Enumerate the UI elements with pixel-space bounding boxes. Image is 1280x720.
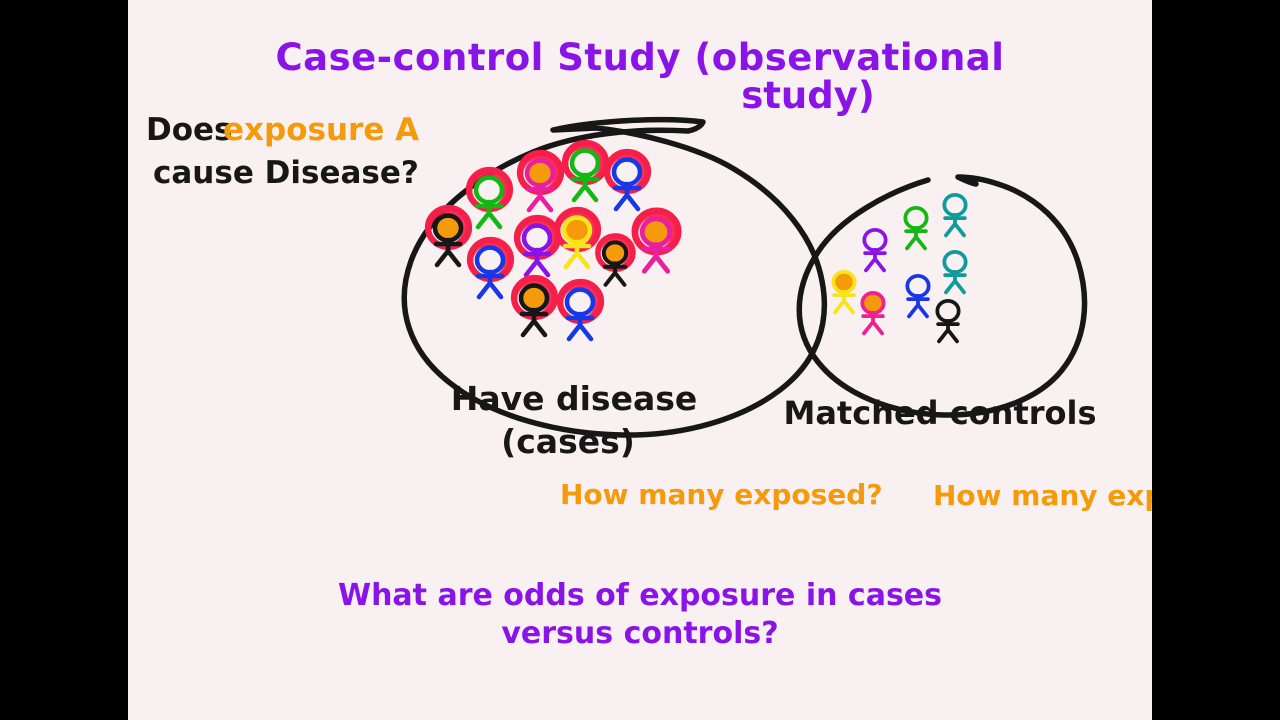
- figure-body: [478, 272, 502, 297]
- letterbox-right: [1152, 0, 1280, 720]
- control-teal-unexposed-2: [944, 252, 965, 293]
- head-exposed: [642, 219, 670, 245]
- odds-question-line-1: What are odds of exposure in cases: [338, 578, 942, 613]
- figure-body: [522, 310, 546, 335]
- case-purple-unexposed-1: [517, 218, 558, 275]
- figure-body: [568, 314, 592, 339]
- head-unexposed: [567, 290, 593, 315]
- case-blue-unexposed-2: [470, 240, 511, 297]
- figure-body: [525, 250, 549, 275]
- figure-body: [573, 175, 597, 200]
- head-unexposed: [477, 248, 503, 273]
- controls-label-line-1: Matched controls: [783, 394, 1096, 432]
- control-black-unexposed: [937, 301, 958, 342]
- question-exposure-highlight: exposure A: [223, 112, 419, 148]
- letterbox-left: [0, 0, 128, 720]
- figure-body: [605, 263, 626, 285]
- video-frame: Case-control Study (observational study)…: [0, 0, 1280, 720]
- head-unexposed: [944, 195, 965, 215]
- cases-exposure-prompt: How many exposed?: [560, 478, 883, 511]
- case-green-unexposed-2: [565, 143, 606, 200]
- figure-body: [436, 240, 460, 265]
- head-unexposed: [864, 230, 885, 250]
- figure-body: [863, 313, 883, 334]
- odds-question: What are odds of exposure in cases versu…: [338, 578, 942, 651]
- case-green-unexposed-1: [469, 170, 510, 227]
- case-yellow-exposed-1: [557, 210, 598, 267]
- lecture-drawing: Case-control Study (observational study)…: [128, 0, 1152, 720]
- head-exposed: [833, 272, 854, 292]
- control-purple-unexposed: [864, 230, 885, 271]
- case-magenta-exposed-1: [520, 153, 561, 210]
- odds-question-line-2: versus controls?: [501, 616, 778, 651]
- control-pink-exposed: [862, 293, 883, 334]
- figure-body: [615, 184, 639, 209]
- title-line-1: Case-control Study (observational: [276, 36, 1005, 79]
- research-question: Does exposure A cause Disease?: [146, 112, 419, 191]
- head-unexposed: [614, 160, 640, 185]
- head-exposed: [527, 161, 553, 186]
- figure-body: [908, 296, 928, 317]
- controls-group: Matched controls How many exposed?: [783, 177, 1152, 512]
- head-exposed: [521, 286, 547, 311]
- cases-group: Have disease (cases) How many exposed?: [404, 120, 882, 511]
- question-line-2: cause Disease?: [153, 155, 419, 191]
- case-black-exposed-1: [428, 208, 469, 265]
- case-blue-unexposed-1: [607, 152, 648, 209]
- head-exposed: [435, 216, 461, 241]
- figure-body: [945, 272, 965, 293]
- head-unexposed: [907, 276, 928, 296]
- case-black-exposed-3: [514, 278, 555, 335]
- cases-label-line-1: Have disease: [451, 379, 698, 418]
- figure-body: [834, 292, 854, 313]
- title-line-2: study): [741, 74, 875, 117]
- head-exposed: [564, 218, 590, 243]
- figure-body: [945, 215, 965, 236]
- slide-title: Case-control Study (observational study): [276, 36, 1005, 117]
- head-unexposed: [905, 208, 926, 228]
- case-black-exposed-2: [598, 236, 633, 285]
- control-blue-unexposed: [907, 276, 928, 317]
- controls-exposure-prompt: How many exposed?: [933, 479, 1152, 512]
- head-unexposed: [944, 252, 965, 272]
- figure-body: [938, 321, 958, 342]
- cases-label-line-2: (cases): [501, 422, 635, 461]
- whiteboard-canvas: Case-control Study (observational study)…: [128, 0, 1152, 720]
- head-unexposed: [524, 226, 550, 251]
- figure-body: [865, 250, 885, 271]
- head-exposed: [862, 293, 883, 313]
- figure-body: [477, 202, 501, 227]
- cases-people: [428, 143, 678, 339]
- head-unexposed: [572, 151, 598, 176]
- figure-body: [565, 242, 589, 267]
- control-yellow-exposed: [833, 272, 854, 313]
- control-teal-unexposed-1: [944, 195, 965, 236]
- case-blue-unexposed-3: [560, 282, 601, 339]
- head-unexposed: [476, 178, 502, 203]
- figure-body: [906, 228, 926, 249]
- figure-body: [528, 185, 552, 210]
- head-exposed: [604, 242, 626, 263]
- figure-body: [643, 245, 668, 272]
- control-green-unexposed: [905, 208, 926, 249]
- head-unexposed: [937, 301, 958, 321]
- case-magenta-exposed-2: [635, 211, 678, 271]
